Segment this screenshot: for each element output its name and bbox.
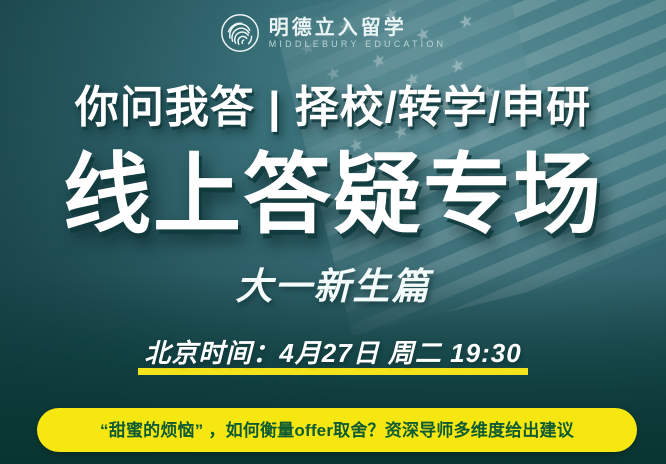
bottom-banner-text: “甜蜜的烦恼” ，如何衡量offer取舍？资深导师多维度给出建议 xyxy=(100,422,574,439)
logo-english-name: MIDDLEBURY EDUCATION xyxy=(269,40,447,49)
logo-chinese-name: 明德立入留学 xyxy=(269,18,447,38)
event-time-label: 北京时间：4月27日 周二 19:30 xyxy=(144,338,521,368)
event-time-underline xyxy=(138,368,527,375)
headline-line-1: 你问我答 | 择校/转学/申研 xyxy=(0,86,666,130)
fingerprint-circle-icon xyxy=(220,13,260,53)
event-time-row: 北京时间：4月27日 周二 19:30 xyxy=(0,339,666,375)
logo-text-block: 明德立入留学 MIDDLEBURY EDUCATION xyxy=(269,18,447,49)
headline-subtitle: 大一新生篇 xyxy=(0,268,666,305)
page-title: 线上答疑专场 xyxy=(0,150,666,240)
promotional-poster: ★ ★ ★ ★ ★ ★ ★ ★ ★ ★ ★ ★ ★ ★ ★ ★ xyxy=(0,0,666,464)
event-time-highlight: 北京时间：4月27日 周二 19:30 xyxy=(138,339,527,375)
brand-logo: 明德立入留学 MIDDLEBURY EDUCATION xyxy=(0,13,666,53)
bottom-banner: “甜蜜的烦恼” ，如何衡量offer取舍？资深导师多维度给出建议 xyxy=(37,408,637,452)
